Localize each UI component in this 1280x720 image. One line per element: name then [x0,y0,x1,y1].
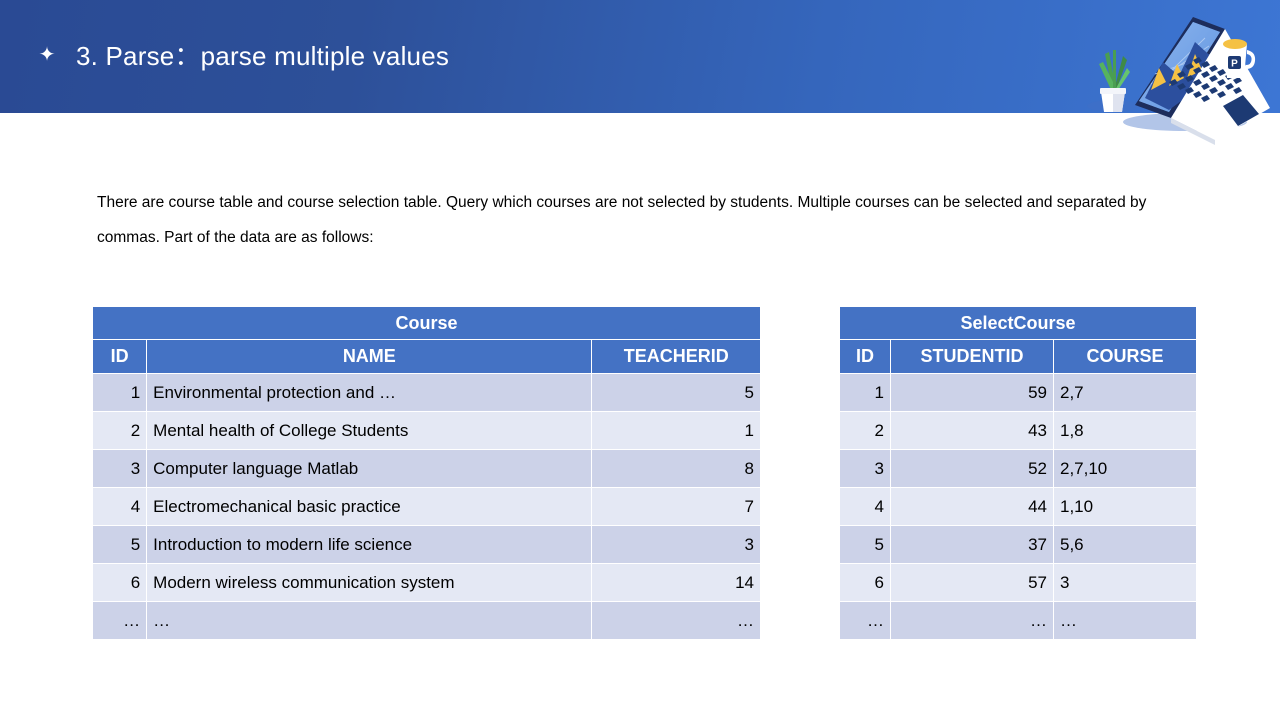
cell-studentid: 52 [891,450,1053,487]
cell-name: Electromechanical basic practice [147,488,591,525]
column-header-id: ID [840,340,890,373]
cell-course: 1,8 [1054,412,1196,449]
cell-course: 3 [1054,564,1196,601]
cell-name: Mental health of College Students [147,412,591,449]
column-header-id: ID [93,340,146,373]
cell-id: 3 [93,450,146,487]
cell-id: 4 [93,488,146,525]
cell-teacherid: 5 [592,374,760,411]
cell-teacherid: … [592,602,760,639]
table-row: 3 Computer language Matlab 8 [93,450,760,487]
cell-course: 1,10 [1054,488,1196,525]
cell-name: Modern wireless communication system [147,564,591,601]
table-row: 1 Environmental protection and … 5 [93,374,760,411]
table-row: 6 57 3 [840,564,1196,601]
svg-text:P: P [1231,59,1238,70]
cell-name: Environmental protection and … [147,374,591,411]
cell-studentid: … [891,602,1053,639]
column-header-name: NAME [147,340,591,373]
laptop-plant-mug-illustration: P [1065,2,1280,147]
cell-teacherid: 14 [592,564,760,601]
selectcourse-table: SelectCourse ID STUDENTID COURSE 1 59 2,… [839,306,1197,640]
cell-teacherid: 1 [592,412,760,449]
cell-id: 5 [840,526,890,563]
cell-studentid: 37 [891,526,1053,563]
course-table: Course ID NAME TEACHERID 1 Environmental… [92,306,761,640]
table-row: … … … [93,602,760,639]
coffee-mug-icon: P [1223,39,1255,78]
table-row: 1 59 2,7 [840,374,1196,411]
cell-name: Computer language Matlab [147,450,591,487]
table-row: 5 Introduction to modern life science 3 [93,526,760,563]
course-table-title: Course [93,307,760,339]
cell-id: 2 [93,412,146,449]
slide-title-row: ✦ 3. Parse：parse multiple values [38,36,449,73]
cell-teacherid: 7 [592,488,760,525]
cell-id: 6 [93,564,146,601]
cell-studentid: 57 [891,564,1053,601]
column-header-studentid: STUDENTID [891,340,1053,373]
table-row: 3 52 2,7,10 [840,450,1196,487]
laptop-icon [1135,17,1270,145]
cell-id: 2 [840,412,890,449]
cell-id: … [840,602,890,639]
potted-plant-icon [1099,50,1130,112]
cell-id: … [93,602,146,639]
table-row: 2 Mental health of College Students 1 [93,412,760,449]
selectcourse-table-title: SelectCourse [840,307,1196,339]
cell-id: 6 [840,564,890,601]
cell-course: 2,7 [1054,374,1196,411]
cell-id: 4 [840,488,890,525]
cell-studentid: 43 [891,412,1053,449]
table-row: 4 44 1,10 [840,488,1196,525]
cell-course: 5,6 [1054,526,1196,563]
course-table-header-row: ID NAME TEACHERID [93,340,760,373]
slide-header-banner: ✦ 3. Parse：parse multiple values [0,0,1280,113]
column-header-teacherid: TEACHERID [592,340,760,373]
cell-name: … [147,602,591,639]
table-row: 4 Electromechanical basic practice 7 [93,488,760,525]
page-title: 3. Parse：parse multiple values [76,36,449,73]
cell-id: 1 [840,374,890,411]
selectcourse-table-title-row: SelectCourse [840,307,1196,339]
course-table-title-row: Course [93,307,760,339]
table-row: 2 43 1,8 [840,412,1196,449]
table-row: 5 37 5,6 [840,526,1196,563]
column-header-course: COURSE [1054,340,1196,373]
cell-id: 5 [93,526,146,563]
table-row: … … … [840,602,1196,639]
selectcourse-table-header-row: ID STUDENTID COURSE [840,340,1196,373]
table-row: 6 Modern wireless communication system 1… [93,564,760,601]
cell-id: 3 [840,450,890,487]
cell-course: 2,7,10 [1054,450,1196,487]
four-point-star-icon: ✦ [38,45,56,65]
cell-studentid: 44 [891,488,1053,525]
intro-paragraph: There are course table and course select… [97,185,1172,255]
cell-id: 1 [93,374,146,411]
cell-studentid: 59 [891,374,1053,411]
cell-teacherid: 3 [592,526,760,563]
cell-course: … [1054,602,1196,639]
cell-name: Introduction to modern life science [147,526,591,563]
cell-teacherid: 8 [592,450,760,487]
